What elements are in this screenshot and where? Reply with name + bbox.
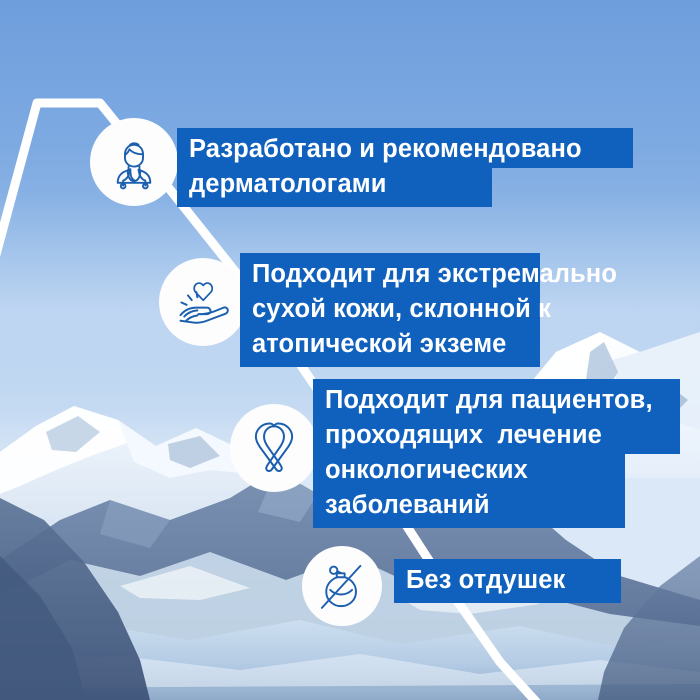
feature-text-oncology-patients: Подходит для пациентов, проходящих лечен… [313,379,680,528]
no-fragrance-icon [314,558,370,614]
poster-canvas: Разработано и рекомендовано дерматологам… [0,0,700,700]
feature-text-line: Без отдушек [394,559,621,603]
feature-text-line: сухой кожи, склонной к [240,293,540,328]
feature-text-extremely-dry-skin: Подходит для экстремально сухой кожи, ск… [240,253,540,367]
feature-text-line: онкологических [313,454,625,489]
feature-icon-bubble-extremely-dry-skin[interactable] [159,258,247,346]
doctor-icon [105,133,163,191]
feature-text-line: атопической экземе [240,328,540,367]
feature-text-line: Подходит для пациентов, [313,379,680,419]
feature-icon-bubble-dermatologists[interactable] [90,118,178,206]
feature-text-line: Подходит для экстремально [240,253,540,293]
feature-icon-bubble-oncology-patients[interactable] [230,404,318,492]
feature-text-line: дерматологами [177,168,492,207]
feature-text-line: проходящих лечение [313,419,680,454]
feature-text-line: Разработано и рекомендовано [177,128,633,168]
awareness-ribbon-icon [245,419,303,477]
feature-icon-bubble-fragrance-free[interactable] [302,546,382,626]
feature-text-fragrance-free: Без отдушек [394,559,621,603]
hand-heart-icon [173,272,233,332]
feature-text-line: заболеваний [313,489,625,528]
feature-text-dermatologists: Разработано и рекомендовано дерматологам… [177,128,633,207]
